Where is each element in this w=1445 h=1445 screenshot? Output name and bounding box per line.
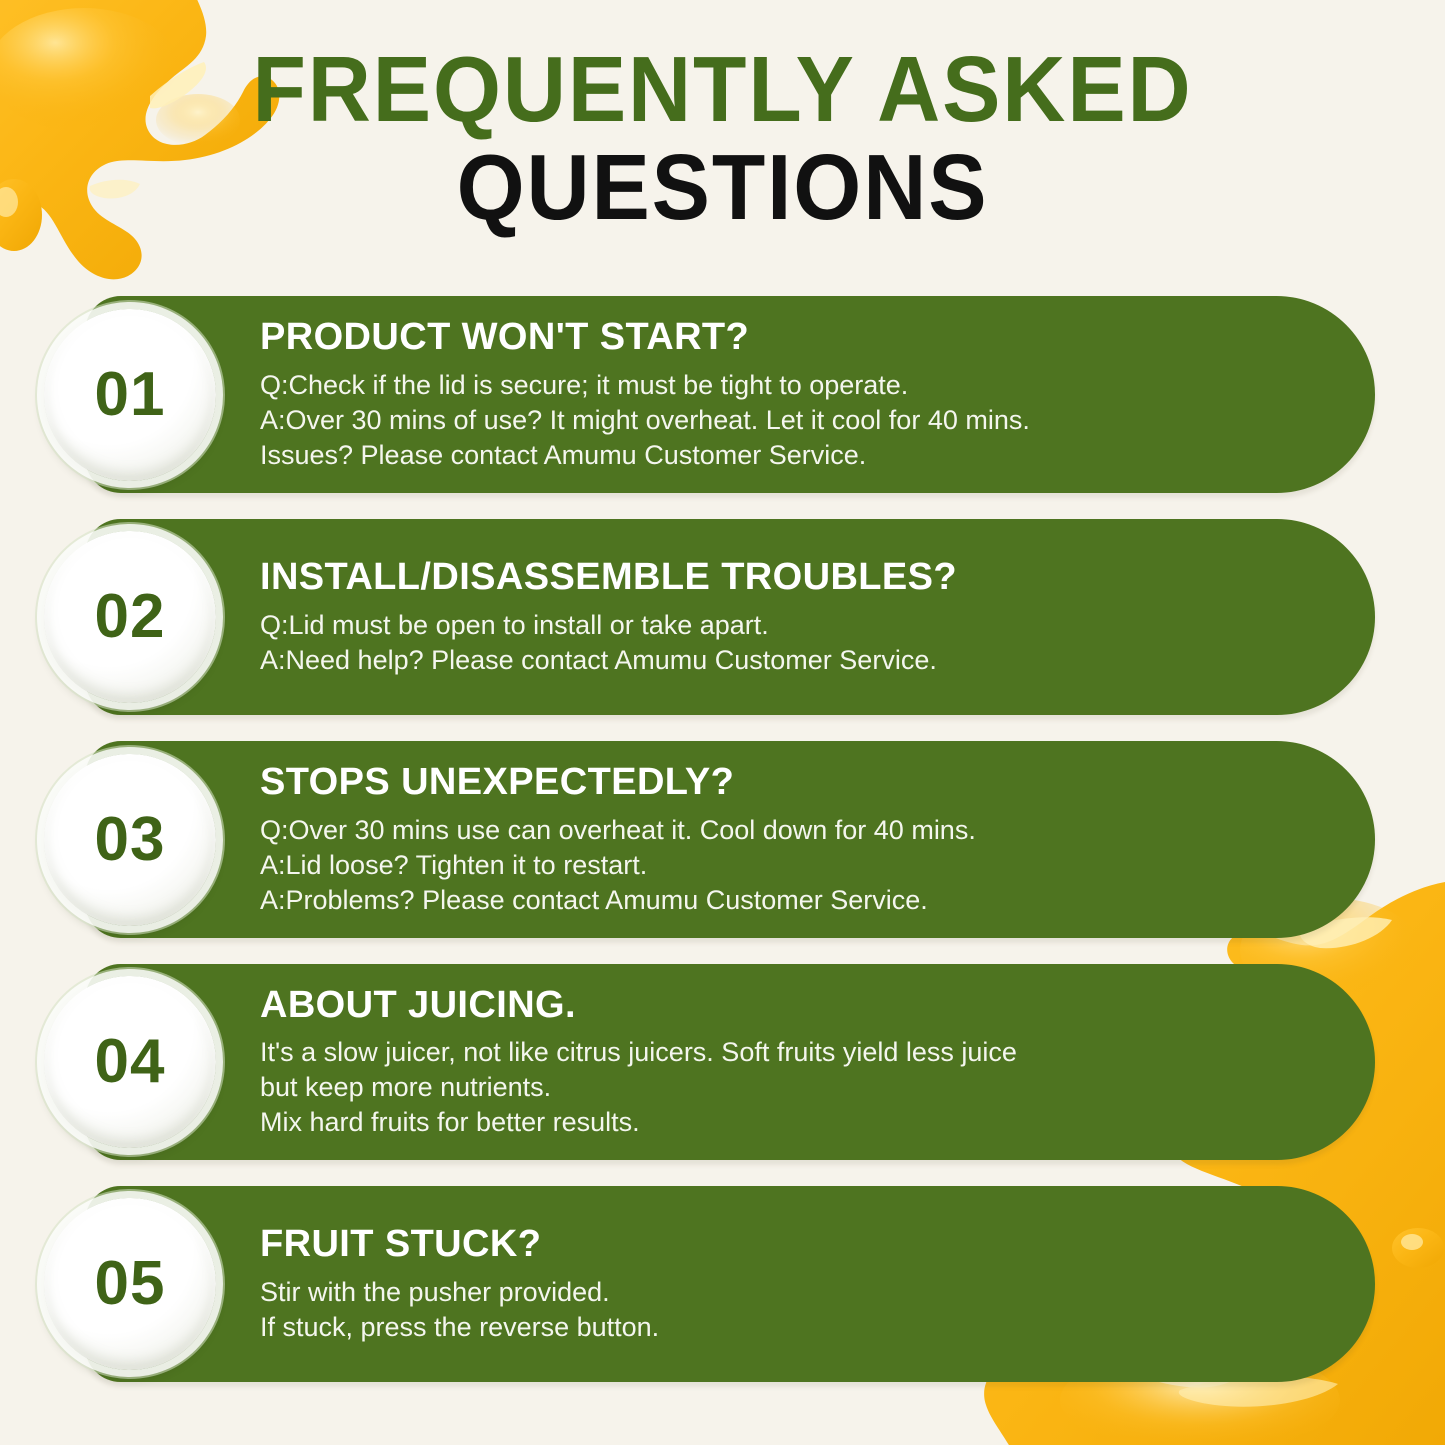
- faq-question-title: INSTALL/DISASSEMBLE TROUBLES?: [260, 556, 957, 599]
- faq-answer-line: Q:Check if the lid is secure; it must be…: [260, 368, 1030, 403]
- faq-card-body: ABOUT JUICING. It's a slow juicer, not l…: [260, 984, 1057, 1141]
- faq-answer-line: A:Lid loose? Tighten it to restart.: [260, 848, 976, 883]
- faq-answer-lines: Q:Lid must be open to install or take ap…: [260, 608, 957, 678]
- faq-card[interactable]: 02 INSTALL/DISASSEMBLE TROUBLES? Q:Lid m…: [85, 519, 1375, 715]
- faq-answer-line: A:Problems? Please contact Amumu Custome…: [260, 883, 976, 918]
- faq-number-label: 04: [95, 1031, 166, 1093]
- faq-question-title: PRODUCT WON'T START?: [260, 316, 1030, 359]
- faq-list: 01 PRODUCT WON'T START? Q:Check if the l…: [0, 296, 1445, 1382]
- faq-answer-line: A:Need help? Please contact Amumu Custom…: [260, 643, 957, 678]
- faq-number-label: 02: [95, 586, 166, 648]
- faq-answer-line: Q:Lid must be open to install or take ap…: [260, 608, 957, 643]
- faq-card[interactable]: 03 STOPS UNEXPECTEDLY? Q:Over 30 mins us…: [85, 741, 1375, 938]
- faq-card[interactable]: 04 ABOUT JUICING. It's a slow juicer, no…: [85, 964, 1375, 1160]
- faq-answer-line: A:Over 30 mins of use? It might overheat…: [260, 403, 1030, 438]
- faq-card-body: STOPS UNEXPECTEDLY? Q:Over 30 mins use c…: [260, 761, 1016, 918]
- faq-answer-lines: Stir with the pusher provided. If stuck,…: [260, 1275, 659, 1345]
- faq-infographic-page: FREQUENTLY ASKED QUESTIONS 01 PRODUCT WO…: [0, 0, 1445, 1445]
- faq-answer-line: It's a slow juicer, not like citrus juic…: [260, 1035, 1017, 1070]
- faq-card-body: INSTALL/DISASSEMBLE TROUBLES? Q:Lid must…: [260, 556, 997, 678]
- faq-number-label: 01: [95, 364, 166, 426]
- faq-number-badge: 03: [44, 754, 216, 926]
- faq-card-body: FRUIT STUCK? Stir with the pusher provid…: [260, 1223, 699, 1345]
- faq-card[interactable]: 01 PRODUCT WON'T START? Q:Check if the l…: [85, 296, 1375, 493]
- faq-card-body: PRODUCT WON'T START? Q:Check if the lid …: [260, 316, 1070, 473]
- faq-answer-lines: It's a slow juicer, not like citrus juic…: [260, 1035, 1017, 1140]
- faq-answer-line: Mix hard fruits for better results.: [260, 1105, 1017, 1140]
- faq-question-title: ABOUT JUICING.: [260, 984, 1017, 1027]
- faq-answer-line: If stuck, press the reverse button.: [260, 1310, 659, 1345]
- faq-answer-lines: Q:Over 30 mins use can overheat it. Cool…: [260, 813, 976, 918]
- faq-card[interactable]: 05 FRUIT STUCK? Stir with the pusher pro…: [85, 1186, 1375, 1382]
- faq-number-badge: 02: [44, 531, 216, 703]
- page-title-line-2: QUESTIONS: [43, 141, 1401, 234]
- faq-question-title: FRUIT STUCK?: [260, 1223, 659, 1266]
- faq-answer-lines: Q:Check if the lid is secure; it must be…: [260, 368, 1030, 473]
- faq-number-label: 03: [95, 809, 166, 871]
- faq-number-badge: 04: [44, 976, 216, 1148]
- faq-answer-line: Issues? Please contact Amumu Customer Se…: [260, 438, 1030, 473]
- page-header: FREQUENTLY ASKED QUESTIONS: [0, 44, 1445, 234]
- faq-number-label: 05: [95, 1253, 166, 1315]
- faq-answer-line: Q:Over 30 mins use can overheat it. Cool…: [260, 813, 976, 848]
- faq-number-badge: 01: [44, 309, 216, 481]
- faq-answer-line: but keep more nutrients.: [260, 1070, 1017, 1105]
- faq-answer-line: Stir with the pusher provided.: [260, 1275, 659, 1310]
- page-title-line-1: FREQUENTLY ASKED: [43, 44, 1401, 135]
- faq-question-title: STOPS UNEXPECTEDLY?: [260, 761, 976, 804]
- faq-number-badge: 05: [44, 1198, 216, 1370]
